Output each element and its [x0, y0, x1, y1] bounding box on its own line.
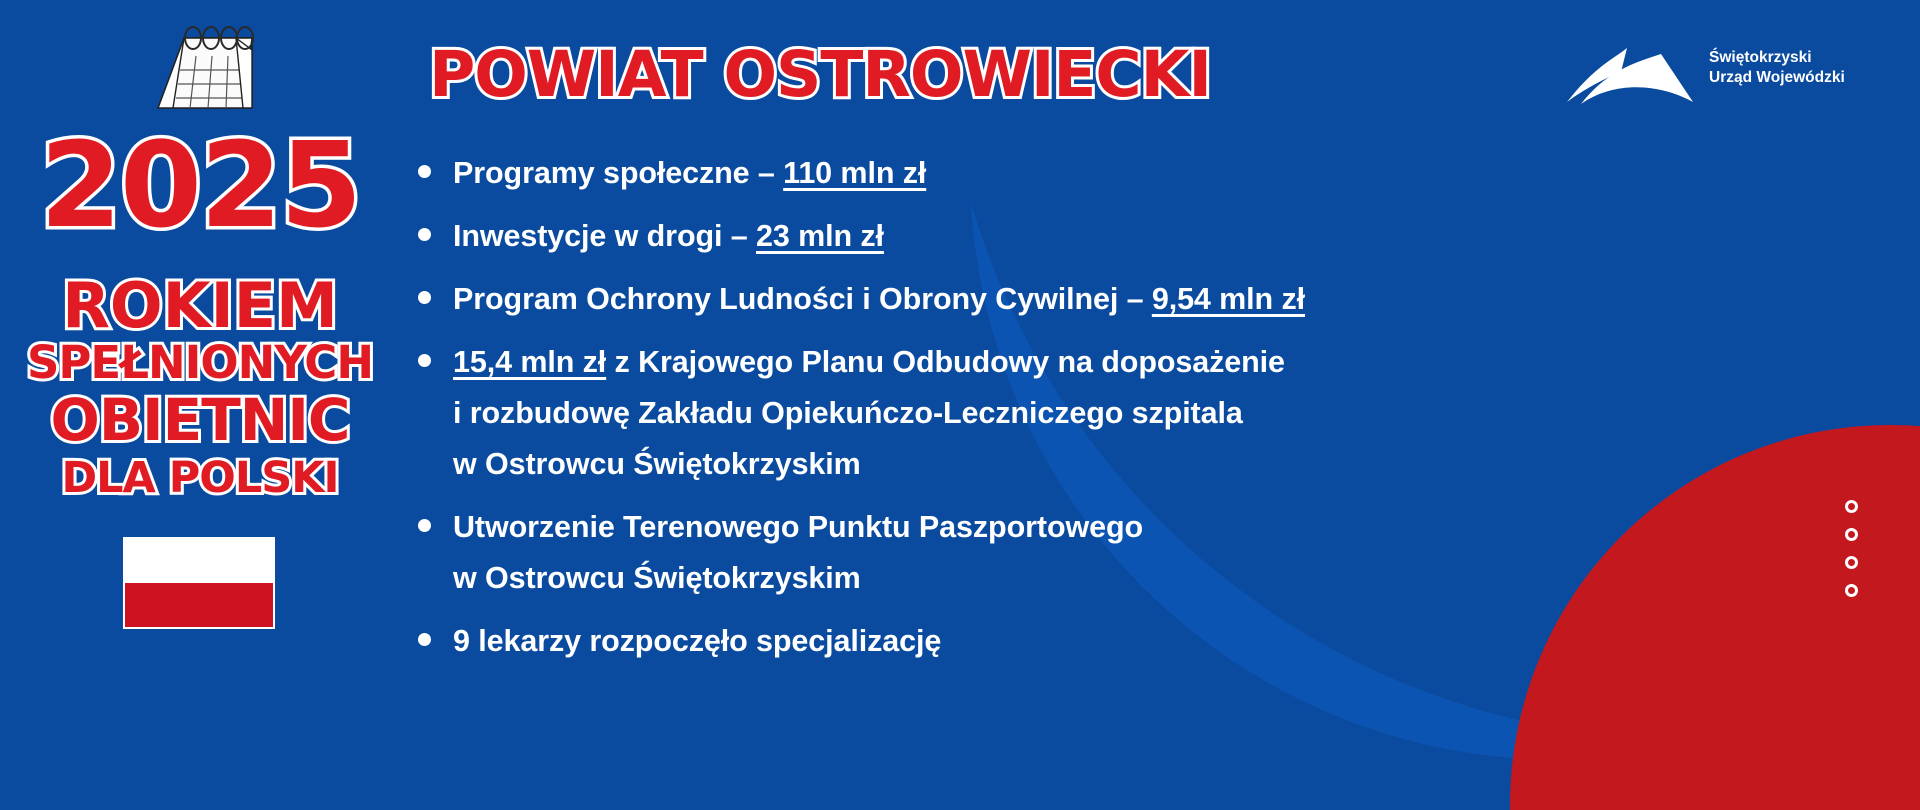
slogan-line-3: OBIETNIC — [0, 389, 400, 451]
list-item-line: 9 lekarzy rozpoczęło specjalizację — [453, 616, 941, 667]
slogan-line-1: ROKIEM — [0, 276, 400, 336]
list-item-text: 15,4 mln zł z Krajowego Planu Odbudowy n… — [453, 337, 1285, 490]
infographic-banner: 2025 ROKIEM SPEŁNIONYCH OBIETNIC DLA POL… — [0, 0, 1920, 810]
list-item: Inwestycje w drogi – 23 mln zł — [418, 211, 1498, 262]
circle-outline-icon — [1845, 584, 1858, 597]
bullet-dot-icon — [418, 165, 431, 178]
calendar-icon — [140, 22, 270, 122]
list-item-text: Inwestycje w drogi – 23 mln zł — [453, 211, 884, 262]
circle-outline-icon — [1845, 500, 1858, 513]
slogan: ROKIEM SPEŁNIONYCH OBIETNIC DLA POLSKI — [0, 276, 400, 505]
slogan-line-4: DLA POLSKI — [0, 451, 400, 505]
list-item-text: 9 lekarzy rozpoczęło specjalizację — [453, 616, 941, 667]
list-item: 15,4 mln zł z Krajowego Planu Odbudowy n… — [418, 337, 1498, 490]
list-item: Utworzenie Terenowego Punktu Paszportowe… — [418, 502, 1498, 604]
left-panel: 2025 ROKIEM SPEŁNIONYCH OBIETNIC DLA POL… — [0, 0, 400, 810]
mountain-peaks-logo-icon — [1565, 32, 1693, 104]
list-item: Program Ochrony Ludności i Obrony Cywiln… — [418, 274, 1498, 325]
text-segment: z Krajowego Planu Odbudowy na doposażeni… — [606, 345, 1285, 379]
highlighted-amount: 23 mln zł — [756, 219, 884, 253]
text-segment: Programy społeczne – — [453, 156, 783, 190]
logo-text-line-2: Urząd Wojewódzki — [1709, 68, 1845, 88]
highlighted-amount: 110 mln zł — [783, 156, 926, 190]
bullet-dot-icon — [418, 291, 431, 304]
text-segment: Utworzenie Terenowego Punktu Paszportowe… — [453, 510, 1143, 544]
flag-stripe-white — [125, 539, 273, 583]
text-segment: 9 lekarzy rozpoczęło specjalizację — [453, 624, 941, 658]
list-item-line: w Ostrowcu Świętokrzyskim — [453, 439, 1285, 490]
slogan-line-2: SPEŁNIONYCH — [0, 336, 400, 389]
text-segment: Program Ochrony Ludności i Obrony Cywiln… — [453, 282, 1152, 316]
bullet-dot-icon — [418, 519, 431, 532]
list-item-line: w Ostrowcu Świętokrzyskim — [453, 553, 1143, 604]
list-item-line: 15,4 mln zł z Krajowego Planu Odbudowy n… — [453, 337, 1285, 388]
list-item-text: Program Ochrony Ludności i Obrony Cywiln… — [453, 274, 1305, 325]
logo-text-line-1: Świętokrzyski — [1709, 48, 1845, 68]
list-item-line: Programy społeczne – 110 mln zł — [453, 148, 926, 199]
bullet-dot-icon — [418, 354, 431, 367]
flag-stripe-red — [125, 583, 273, 627]
text-segment: Inwestycje w drogi – — [453, 219, 756, 253]
decorative-dots — [1845, 500, 1858, 597]
achievements-list: Programy społeczne – 110 mln złInwestycj… — [418, 148, 1498, 679]
list-item-line: i rozbudowę Zakładu Opiekuńczo-Lecznicze… — [453, 388, 1285, 439]
page-title: POWIAT OSTROWIECKI — [400, 43, 1240, 106]
circle-outline-icon — [1845, 556, 1858, 569]
bullet-dot-icon — [418, 228, 431, 241]
bullet-dot-icon — [418, 633, 431, 646]
list-item-text: Utworzenie Terenowego Punktu Paszportowe… — [453, 502, 1143, 604]
institution-logo: Świętokrzyski Urząd Wojewódzki — [1565, 32, 1845, 104]
highlighted-amount: 15,4 mln zł — [453, 345, 606, 379]
list-item: Programy społeczne – 110 mln zł — [418, 148, 1498, 199]
text-segment: w Ostrowcu Świętokrzyskim — [453, 561, 861, 595]
list-item-text: Programy społeczne – 110 mln zł — [453, 148, 926, 199]
text-segment: w Ostrowcu Świętokrzyskim — [453, 447, 861, 481]
circle-outline-icon — [1845, 528, 1858, 541]
highlighted-amount: 9,54 mln zł — [1152, 282, 1305, 316]
list-item-line: Program Ochrony Ludności i Obrony Cywiln… — [453, 274, 1305, 325]
year-2025: 2025 — [0, 126, 400, 244]
list-item: 9 lekarzy rozpoczęło specjalizację — [418, 616, 1498, 667]
text-segment: i rozbudowę Zakładu Opiekuńczo-Lecznicze… — [453, 396, 1243, 430]
logo-text: Świętokrzyski Urząd Wojewódzki — [1709, 48, 1845, 88]
polish-flag-icon — [123, 537, 275, 629]
list-item-line: Utworzenie Terenowego Punktu Paszportowe… — [453, 502, 1143, 553]
list-item-line: Inwestycje w drogi – 23 mln zł — [453, 211, 884, 262]
